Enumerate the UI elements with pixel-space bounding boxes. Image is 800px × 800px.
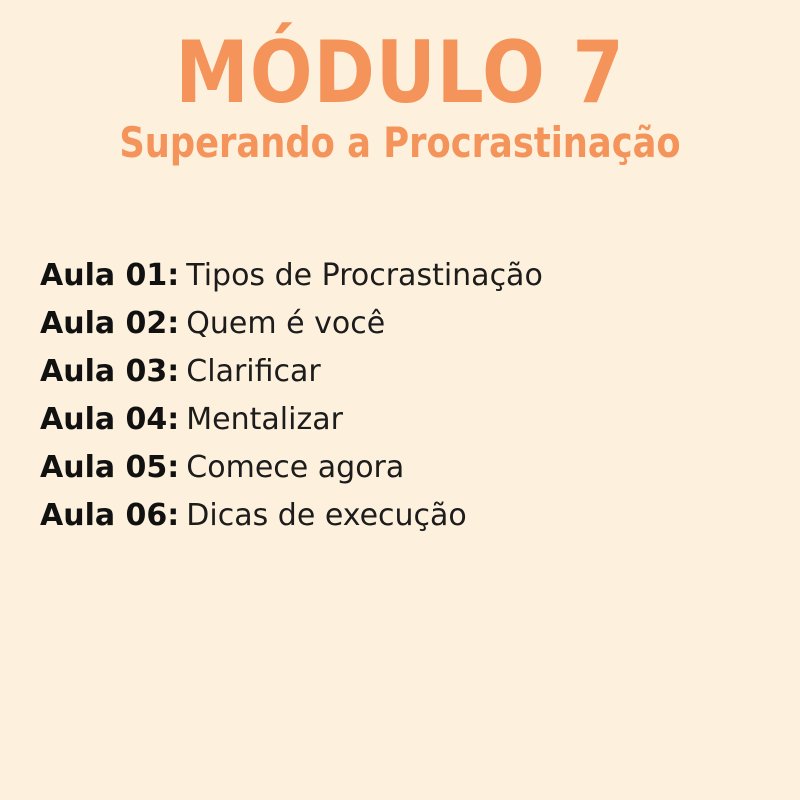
list-item: Aula 02:Quem é você	[40, 300, 760, 348]
header-block: MÓDULO 7 Superando a Procrastinação	[0, 30, 800, 164]
lesson-label: Aula 01:	[40, 258, 179, 293]
page-title: MÓDULO 7	[56, 30, 744, 116]
lesson-list: Aula 01:Tipos de Procrastinação Aula 02:…	[40, 252, 760, 540]
list-item: Aula 01:Tipos de Procrastinação	[40, 252, 760, 300]
lesson-title: Clarificar	[186, 354, 320, 389]
lesson-title: Dicas de execução	[186, 498, 466, 533]
list-item: Aula 03:Clarificar	[40, 348, 760, 396]
list-item: Aula 04:Mentalizar	[40, 396, 760, 444]
lesson-label: Aula 04:	[40, 402, 179, 437]
lesson-title: Mentalizar	[186, 402, 343, 437]
lesson-label: Aula 02:	[40, 306, 179, 341]
lesson-label: Aula 05:	[40, 450, 179, 485]
page-subtitle: Superando a Procrastinação	[64, 122, 736, 164]
list-item: Aula 06:Dicas de execução	[40, 492, 760, 540]
list-item: Aula 05:Comece agora	[40, 444, 760, 492]
lesson-label: Aula 06:	[40, 498, 179, 533]
lesson-title: Comece agora	[186, 450, 404, 485]
slide-canvas: MÓDULO 7 Superando a Procrastinação Aula…	[0, 0, 800, 800]
lesson-title: Quem é você	[186, 306, 385, 341]
lesson-title: Tipos de Procrastinação	[186, 258, 543, 293]
lesson-label: Aula 03:	[40, 354, 179, 389]
